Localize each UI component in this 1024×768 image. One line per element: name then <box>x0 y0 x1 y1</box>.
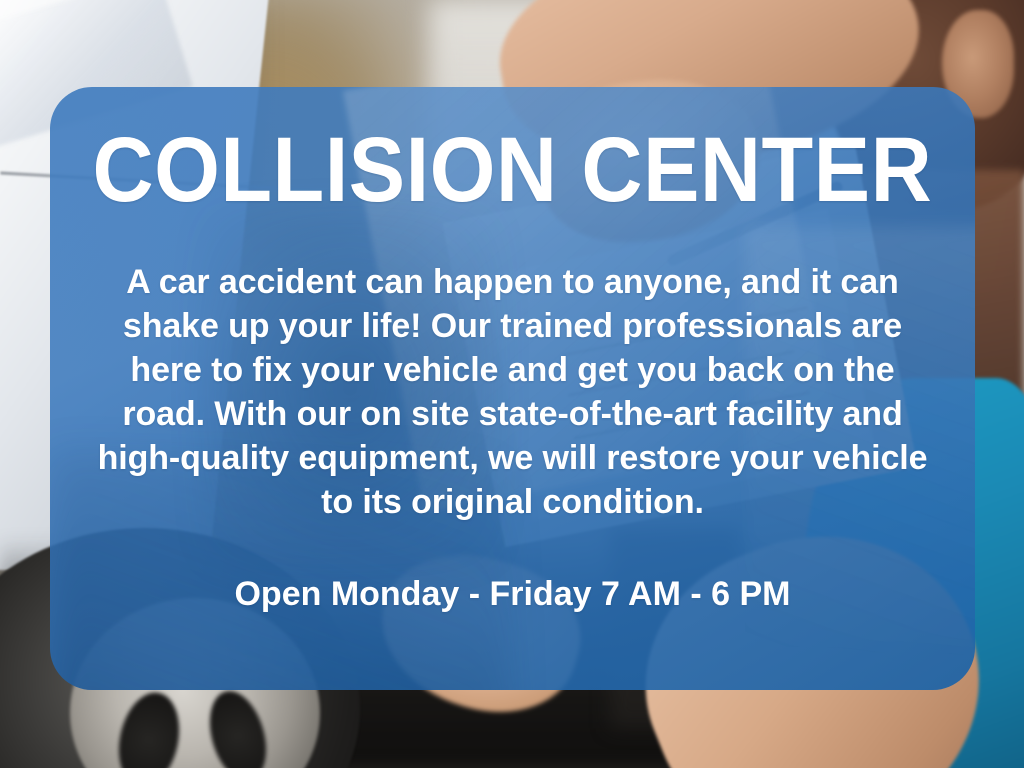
business-hours: Open Monday - Friday 7 AM - 6 PM <box>234 524 790 616</box>
panel-content: COLLISION CENTER A car accident can happ… <box>50 87 975 616</box>
slide-canvas: COLLISION CENTER A car accident can happ… <box>0 0 1024 768</box>
info-panel: COLLISION CENTER A car accident can happ… <box>50 87 975 690</box>
page-title: COLLISION CENTER <box>93 87 933 216</box>
body-paragraph: A car accident can happen to anyone, and… <box>98 216 928 524</box>
